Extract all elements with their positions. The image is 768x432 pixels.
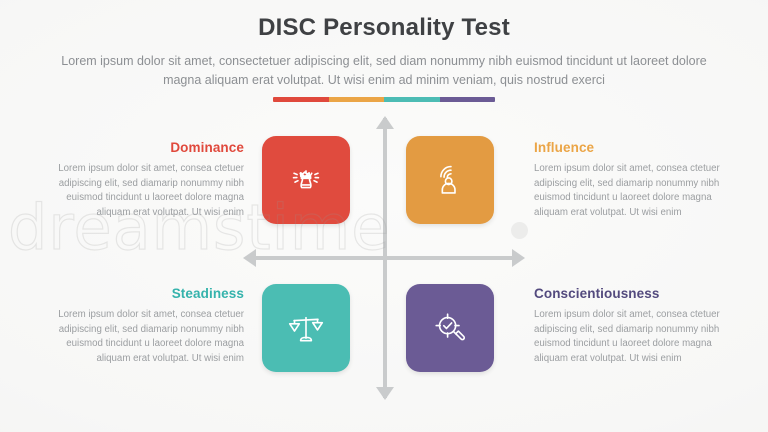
magnifier-check-target-icon <box>427 305 473 351</box>
chess-queen-icon <box>283 157 329 203</box>
body-influence: Lorem ipsum dolor sit amet, consea ctetu… <box>534 162 734 221</box>
arrow-up-icon <box>376 116 394 129</box>
person-broadcast-icon <box>427 157 473 203</box>
colorbar-segment-conscientiousness <box>440 97 496 102</box>
tile-steadiness[interactable] <box>262 284 350 372</box>
label-steadiness: Steadiness <box>44 286 244 301</box>
colorbar-segment-steadiness <box>384 97 440 102</box>
page-subtitle: Lorem ipsum dolor sit amet, consectetuer… <box>54 52 714 91</box>
colorbar-segment-influence <box>329 97 385 102</box>
infographic-page: DISC Personality Test Lorem ipsum dolor … <box>0 0 768 432</box>
header: DISC Personality Test Lorem ipsum dolor … <box>0 14 768 91</box>
horizontal-axis-line <box>255 256 513 260</box>
text-block-influence: Influence Lorem ipsum dolor sit amet, co… <box>534 140 734 221</box>
text-block-steadiness: Steadiness Lorem ipsum dolor sit amet, c… <box>44 286 244 367</box>
accent-color-bar <box>273 97 495 102</box>
label-influence: Influence <box>534 140 734 155</box>
arrow-right-icon <box>512 249 525 267</box>
balance-scale-icon <box>283 305 329 351</box>
arrow-left-icon <box>243 249 256 267</box>
body-dominance: Lorem ipsum dolor sit amet, consea ctetu… <box>44 162 244 221</box>
body-conscientiousness: Lorem ipsum dolor sit amet, consea ctetu… <box>534 308 734 367</box>
text-block-conscientiousness: Conscientiousness Lorem ipsum dolor sit … <box>534 286 734 367</box>
text-block-dominance: Dominance Lorem ipsum dolor sit amet, co… <box>44 140 244 221</box>
arrow-down-icon <box>376 387 394 400</box>
tile-conscientiousness[interactable] <box>406 284 494 372</box>
label-conscientiousness: Conscientiousness <box>534 286 734 301</box>
tile-influence[interactable] <box>406 136 494 224</box>
label-dominance: Dominance <box>44 140 244 155</box>
colorbar-segment-dominance <box>273 97 329 102</box>
tile-dominance[interactable] <box>262 136 350 224</box>
body-steadiness: Lorem ipsum dolor sit amet, consea ctetu… <box>44 308 244 367</box>
page-title: DISC Personality Test <box>0 14 768 43</box>
